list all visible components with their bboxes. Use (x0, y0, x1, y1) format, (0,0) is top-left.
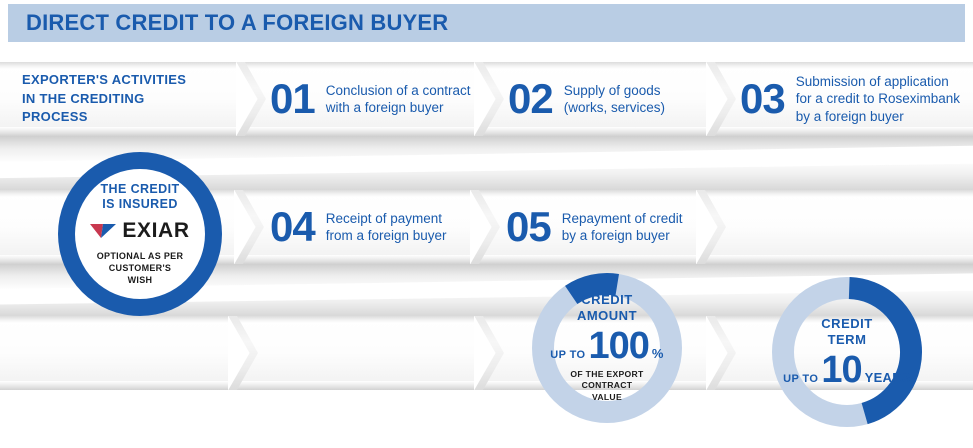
step-02-number: 02 (508, 78, 553, 120)
credit-term-unit: YEARS (865, 370, 911, 385)
exiar-badge-note-line-2: CUSTOMER'S (97, 262, 184, 274)
credit-term-title-line-2: TERM (821, 332, 872, 348)
step-03-number: 03 (740, 78, 785, 120)
lead-label-text: EXPORTER'S ACTIVITIES IN THE CREDITING P… (22, 71, 186, 126)
exiar-logo: EXIAR (90, 219, 189, 243)
lead-label-line-2: IN THE CREDITING (22, 90, 186, 108)
step-04[interactable]: 04 Receipt of payment from a foreign buy… (270, 190, 447, 264)
credit-amount-value: 100 (588, 328, 648, 364)
credit-term-title-line-1: CREDIT (821, 316, 872, 332)
exiar-badge-inner: THE CREDIT IS INSURED EXIAR OPTIONAL AS … (75, 169, 205, 299)
step-05-text: Repayment of credit by a foreign buyer (562, 210, 683, 245)
infographic-root: DIRECT CREDIT TO A FOREIGN BUYER 04 Rece… (0, 0, 973, 448)
credit-term-title: CREDIT TERM (821, 316, 872, 347)
credit-term-prefix: UP TO (783, 373, 818, 385)
credit-amount-label: CREDIT AMOUNT UP TO 100 % OF THE EXPORT … (527, 268, 687, 428)
credit-term-value-row: UP TO 10 YEARS (783, 352, 911, 388)
credit-amount-subtext: OF THE EXPORT CONTRACT VALUE (570, 369, 643, 404)
exiar-wordmark: EXIAR (122, 219, 189, 243)
exiar-badge-heading-line-1: THE CREDIT (101, 182, 180, 198)
credit-term-donut[interactable]: CREDIT TERM UP TO 10 YEARS (767, 272, 927, 432)
credit-amount-unit: % (652, 346, 664, 361)
step-05[interactable]: 05 Repayment of credit by a foreign buye… (506, 190, 683, 264)
step-01[interactable]: 01 Conclusion of a contract with a forei… (270, 62, 471, 136)
credit-amount-title: CREDIT AMOUNT (577, 292, 637, 323)
exiar-triangle-icon (90, 224, 116, 239)
lead-label-line-1: EXPORTER'S ACTIVITIES (22, 71, 186, 89)
step-02-line-1: Supply of goods (564, 82, 665, 99)
credit-term-value: 10 (821, 352, 861, 388)
exiar-badge-note-line-3: WISH (97, 274, 184, 286)
step-04-line-2: from a foreign buyer (326, 227, 447, 244)
credit-amount-subtext-line-3: VALUE (570, 392, 643, 404)
step-02-line-2: (works, services) (564, 99, 665, 116)
step-01-number: 01 (270, 78, 315, 120)
credit-amount-prefix: UP TO (550, 349, 585, 361)
step-05-line-1: Repayment of credit (562, 210, 683, 227)
step-04-line-1: Receipt of payment (326, 210, 447, 227)
lead-label: EXPORTER'S ACTIVITIES IN THE CREDITING P… (22, 62, 186, 136)
step-03-text: Submission of application for a credit t… (796, 73, 960, 125)
exiar-badge-heading: THE CREDIT IS INSURED (101, 182, 180, 213)
step-03-line-1: Submission of application (796, 73, 960, 90)
exiar-badge-heading-line-2: IS INSURED (101, 197, 180, 213)
step-05-number: 05 (506, 206, 551, 248)
exiar-badge-note-line-1: OPTIONAL AS PER (97, 250, 184, 262)
step-01-text: Conclusion of a contract with a foreign … (326, 82, 471, 117)
page-title-bar: DIRECT CREDIT TO A FOREIGN BUYER (8, 4, 965, 42)
exiar-badge-note: OPTIONAL AS PER CUSTOMER'S WISH (97, 250, 184, 286)
credit-term-label: CREDIT TERM UP TO 10 YEARS (767, 272, 927, 432)
step-05-line-2: by a foreign buyer (562, 227, 683, 244)
step-04-number: 04 (270, 206, 315, 248)
credit-amount-subtext-line-1: OF THE EXPORT (570, 369, 643, 381)
credit-amount-subtext-line-2: CONTRACT (570, 380, 643, 392)
credit-amount-title-line-1: CREDIT (577, 292, 637, 308)
step-03-line-2: for a credit to Roseximbank (796, 90, 960, 107)
step-02[interactable]: 02 Supply of goods (works, services) (508, 62, 665, 136)
exiar-insurance-badge[interactable]: THE CREDIT IS INSURED EXIAR OPTIONAL AS … (58, 152, 222, 316)
step-01-line-2: with a foreign buyer (326, 99, 471, 116)
step-03-line-3: by a foreign buyer (796, 108, 960, 125)
step-02-text: Supply of goods (works, services) (564, 82, 665, 117)
page-title: DIRECT CREDIT TO A FOREIGN BUYER (26, 10, 448, 36)
lead-label-line-3: PROCESS (22, 108, 186, 126)
credit-amount-donut[interactable]: CREDIT AMOUNT UP TO 100 % OF THE EXPORT … (527, 268, 687, 428)
credit-amount-title-line-2: AMOUNT (577, 308, 637, 324)
credit-amount-value-row: UP TO 100 % (550, 328, 663, 364)
step-03[interactable]: 03 Submission of application for a credi… (740, 62, 960, 136)
step-01-line-1: Conclusion of a contract (326, 82, 471, 99)
step-04-text: Receipt of payment from a foreign buyer (326, 210, 447, 245)
